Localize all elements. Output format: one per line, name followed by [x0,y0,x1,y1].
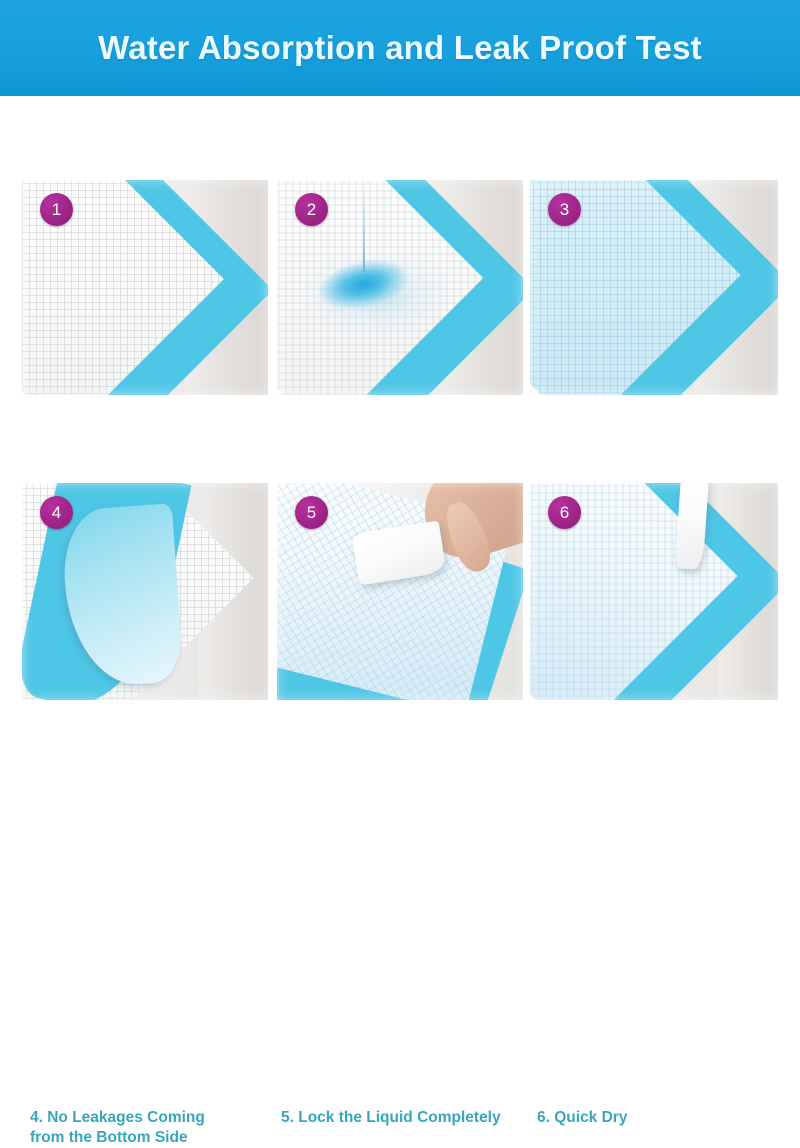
step-badge-6: 6 [548,496,581,529]
step-card-1[interactable]: 1 [22,180,268,395]
step-photo-2: 2 [277,180,523,395]
step-badge-4: 4 [40,496,73,529]
liquid-stream [363,184,365,272]
step-card-3[interactable]: 3 [530,180,778,395]
step-photo-3: 3 [530,180,778,395]
step-caption-6: 6. Quick Dry [537,1108,627,1128]
page-title: Water Absorption and Leak Proof Test [98,29,702,67]
step-caption-4: 4. No Leakages Coming from the Bottom Si… [30,1108,205,1148]
steps-grid: 1 2 3 [0,96,800,800]
step-badge-2: 2 [295,193,328,226]
step-card-6[interactable]: 6 [530,483,778,700]
step-badge-1: 1 [40,193,73,226]
steps-row-bottom: 4 5 6 [0,483,800,700]
step-photo-5: 5 [277,483,523,700]
step-photo-1: 1 [22,180,268,395]
step-card-4[interactable]: 4 [22,483,268,700]
step-caption-5: 5. Lock the Liquid Completely [281,1108,501,1128]
step-card-2[interactable]: 2 [277,180,523,395]
steps-row-top: 1 2 3 [0,180,800,395]
step-card-5[interactable]: 5 [277,483,523,700]
step-badge-5: 5 [295,496,328,529]
header-banner: Water Absorption and Leak Proof Test [0,0,800,96]
step-photo-4: 4 [22,483,268,700]
step-badge-3: 3 [548,193,581,226]
step-photo-6: 6 [530,483,778,700]
